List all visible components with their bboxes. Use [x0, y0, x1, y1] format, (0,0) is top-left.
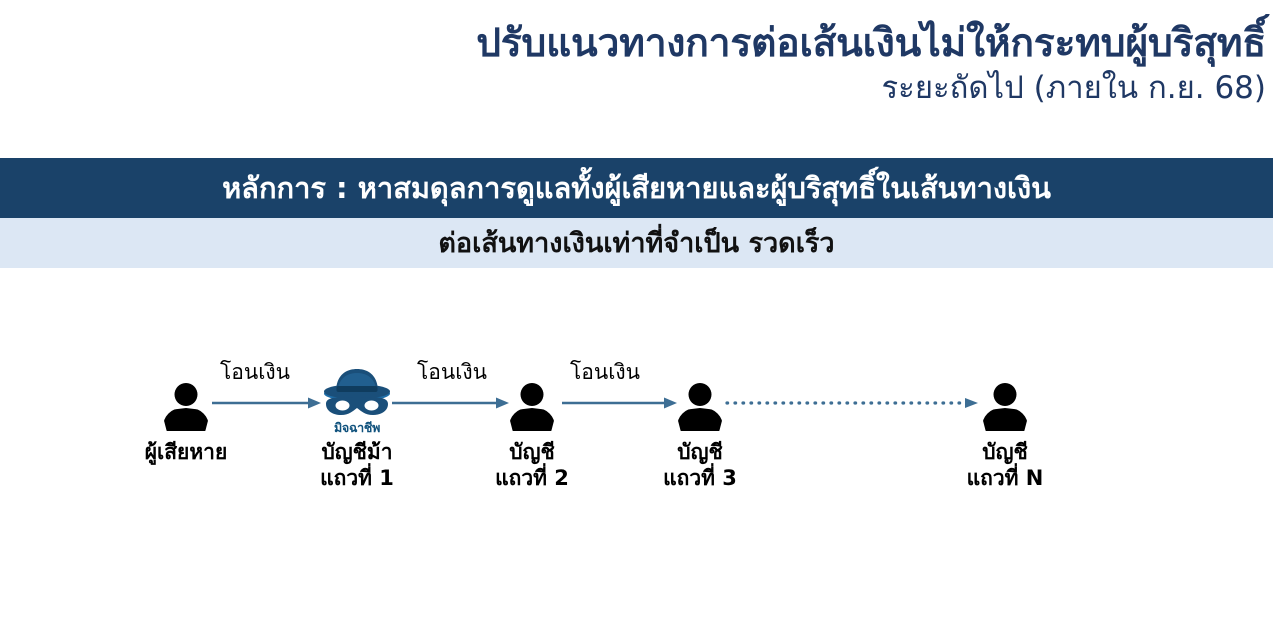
flow-node-victim: ผู้เสียหาย [106, 363, 266, 466]
fraudster-icon: มิจฉาชีพ [320, 367, 394, 433]
label-line-1: บัญชีม้า [277, 440, 437, 466]
flow-node-account-3: บัญชี แถวที่ 3 [620, 363, 780, 491]
flow-node-mule-1-label: บัญชีม้า แถวที่ 1 [277, 440, 437, 491]
account-2-icon-slot [452, 363, 612, 433]
person-head [175, 383, 198, 406]
victim-icon-slot [106, 363, 266, 433]
label-line-1: บัญชี [925, 440, 1085, 466]
money-flow-diagram: โอนเงิน โอนเงิน โอนเงิน ผู้เสียหาย [0, 268, 1280, 638]
label-line-1: บัญชี [452, 440, 612, 466]
page-title: ปรับแนวทางการต่อเส้นเงินไม่ให้กระทบผู้บร… [0, 22, 1266, 66]
mule-icon-slot: มิจฉาชีพ [277, 363, 437, 433]
flow-node-account-2: บัญชี แถวที่ 2 [452, 363, 612, 491]
person-body [982, 408, 1028, 431]
flow-node-victim-label: ผู้เสียหาย [106, 440, 266, 466]
person-body [509, 408, 555, 431]
person-icon [160, 383, 212, 433]
page-subtitle: ระยะถัดไป (ภายใน ก.ย. 68) [0, 70, 1266, 107]
person-body [163, 408, 209, 431]
account-n-icon-slot [925, 363, 1085, 433]
person-head [521, 383, 544, 406]
flow-node-mule-1: มิจฉาชีพ บัญชีม้า แถวที่ 1 [277, 363, 437, 491]
principle-banner: หลักการ : หาสมดุลการดูแลทั้งผู้เสียหายแล… [0, 158, 1273, 218]
label-line-2: แถวที่ N [925, 466, 1085, 492]
flow-node-account-n: บัญชี แถวที่ N [925, 363, 1085, 491]
person-head [994, 383, 1017, 406]
person-body [677, 408, 723, 431]
label-line-2: แถวที่ 1 [277, 466, 437, 492]
person-icon [979, 383, 1031, 433]
label-line-2: แถวที่ 3 [620, 466, 780, 492]
principle-banner-text: หลักการ : หาสมดุลการดูแลทั้งผู้เสียหายแล… [222, 174, 1051, 203]
secondary-banner: ต่อเส้นทางเงินเท่าที่จำเป็น รวดเร็ว [0, 218, 1273, 268]
flow-node-account-3-label: บัญชี แถวที่ 3 [620, 440, 780, 491]
label-line-2: แถวที่ 2 [452, 466, 612, 492]
person-icon [506, 383, 558, 433]
label-line-1: บัญชี [620, 440, 780, 466]
person-head [689, 383, 712, 406]
person-icon [674, 383, 726, 433]
label-line-1: ผู้เสียหาย [106, 440, 266, 466]
fraudster-icon-caption: มิจฉาชีพ [320, 422, 394, 435]
flow-node-account-2-label: บัญชี แถวที่ 2 [452, 440, 612, 491]
page-header: ปรับแนวทางการต่อเส้นเงินไม่ให้กระทบผู้บร… [0, 0, 1280, 150]
account-3-icon-slot [620, 363, 780, 433]
secondary-banner-text: ต่อเส้นทางเงินเท่าที่จำเป็น รวดเร็ว [438, 230, 834, 257]
flow-node-account-n-label: บัญชี แถวที่ N [925, 440, 1085, 491]
